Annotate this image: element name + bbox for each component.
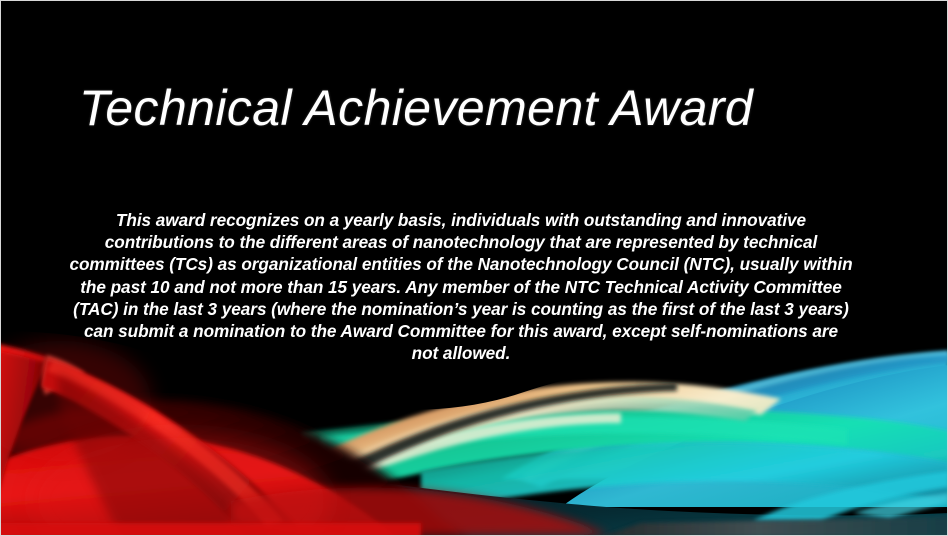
page-title: Technical Achievement Award: [79, 79, 753, 137]
presentation-slide: Technical Achievement Award This award r…: [0, 0, 948, 536]
slide-content: Technical Achievement Award This award r…: [1, 1, 948, 536]
award-description-text: This award recognizes on a yearly basis,…: [69, 209, 853, 364]
